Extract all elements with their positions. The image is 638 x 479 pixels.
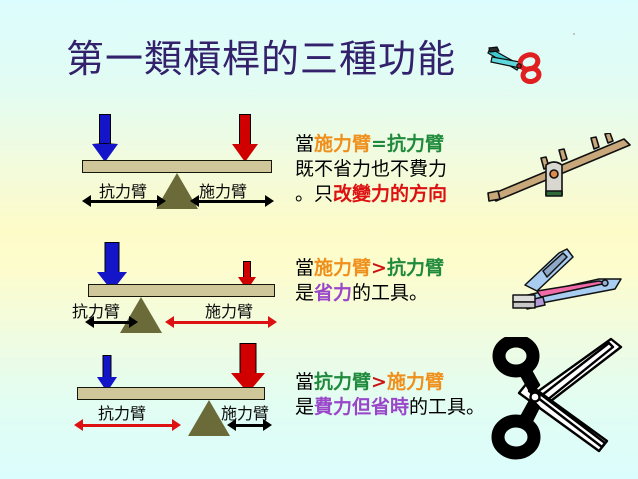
exp3-term-resistance: 抗力臂 bbox=[314, 371, 371, 393]
lever-beam-1 bbox=[82, 160, 272, 173]
exp1-term-effort: 施力臂 bbox=[314, 133, 371, 155]
force-arrow-blue-1 bbox=[92, 114, 118, 162]
resistance-measure-1 bbox=[82, 195, 166, 208]
exp2-term-effort: 施力臂 bbox=[314, 257, 371, 279]
effort-measure-1 bbox=[190, 195, 274, 208]
explanation-effort-longer: 當施力臂>抗力臂 是省力的工具。 bbox=[295, 256, 444, 306]
exp2-line2-prefix: 是 bbox=[295, 282, 314, 304]
force-arrow-red-1 bbox=[232, 114, 258, 162]
explanation-resistance-longer: 當抗力臂>施力臂 是費力但省時的工具。 bbox=[295, 370, 485, 420]
exp3-operator: > bbox=[371, 371, 387, 393]
lever-beam-3 bbox=[77, 387, 265, 400]
nail-clipper-icon bbox=[495, 245, 635, 317]
decorative-dot bbox=[573, 33, 575, 35]
exp1-prefix: 當 bbox=[295, 133, 314, 155]
exp1-operator: = bbox=[371, 133, 387, 155]
lever-beam-2 bbox=[88, 284, 275, 297]
resistance-measure-3 bbox=[74, 419, 181, 432]
exp3-prefix: 當 bbox=[295, 371, 314, 393]
exp1-line2: 既不省力也不費力 bbox=[295, 157, 447, 182]
seesaw-icon bbox=[484, 133, 636, 211]
resistance-measure-2 bbox=[85, 316, 138, 329]
slide-canvas: 第一類槓桿的三種功能 抗力臂 施力 bbox=[0, 0, 638, 479]
exp3-term-effort: 施力臂 bbox=[387, 371, 444, 393]
explanation-equal-arms: 當施力臂=抗力臂 既不省力也不費力 。只改變力的方向 bbox=[295, 132, 447, 207]
force-arrow-red-3 bbox=[231, 343, 265, 393]
exp2-prefix: 當 bbox=[295, 257, 314, 279]
open-scissors-icon bbox=[487, 337, 633, 461]
force-arrow-blue-2 bbox=[97, 242, 127, 290]
page-title: 第一類槓桿的三種功能 bbox=[66, 28, 456, 83]
effort-measure-3 bbox=[227, 419, 272, 432]
effort-measure-2 bbox=[165, 316, 277, 329]
exp2-operator: > bbox=[371, 257, 387, 279]
scissors-icon bbox=[487, 38, 549, 84]
exp2-line2-emphasis: 省力 bbox=[314, 282, 352, 304]
exp3-line2-prefix: 是 bbox=[295, 396, 314, 418]
exp2-term-resistance: 抗力臂 bbox=[387, 257, 444, 279]
exp3-line2-emphasis: 費力但省時 bbox=[314, 396, 409, 418]
exp1-line3-prefix: 。只 bbox=[295, 183, 333, 205]
exp3-line2-suffix: 的工具。 bbox=[409, 396, 485, 418]
exp2-line2-suffix: 的工具。 bbox=[352, 282, 428, 304]
exp1-term-resistance: 抗力臂 bbox=[387, 133, 444, 155]
exp1-line3-emphasis: 改變力的方向 bbox=[333, 183, 447, 205]
